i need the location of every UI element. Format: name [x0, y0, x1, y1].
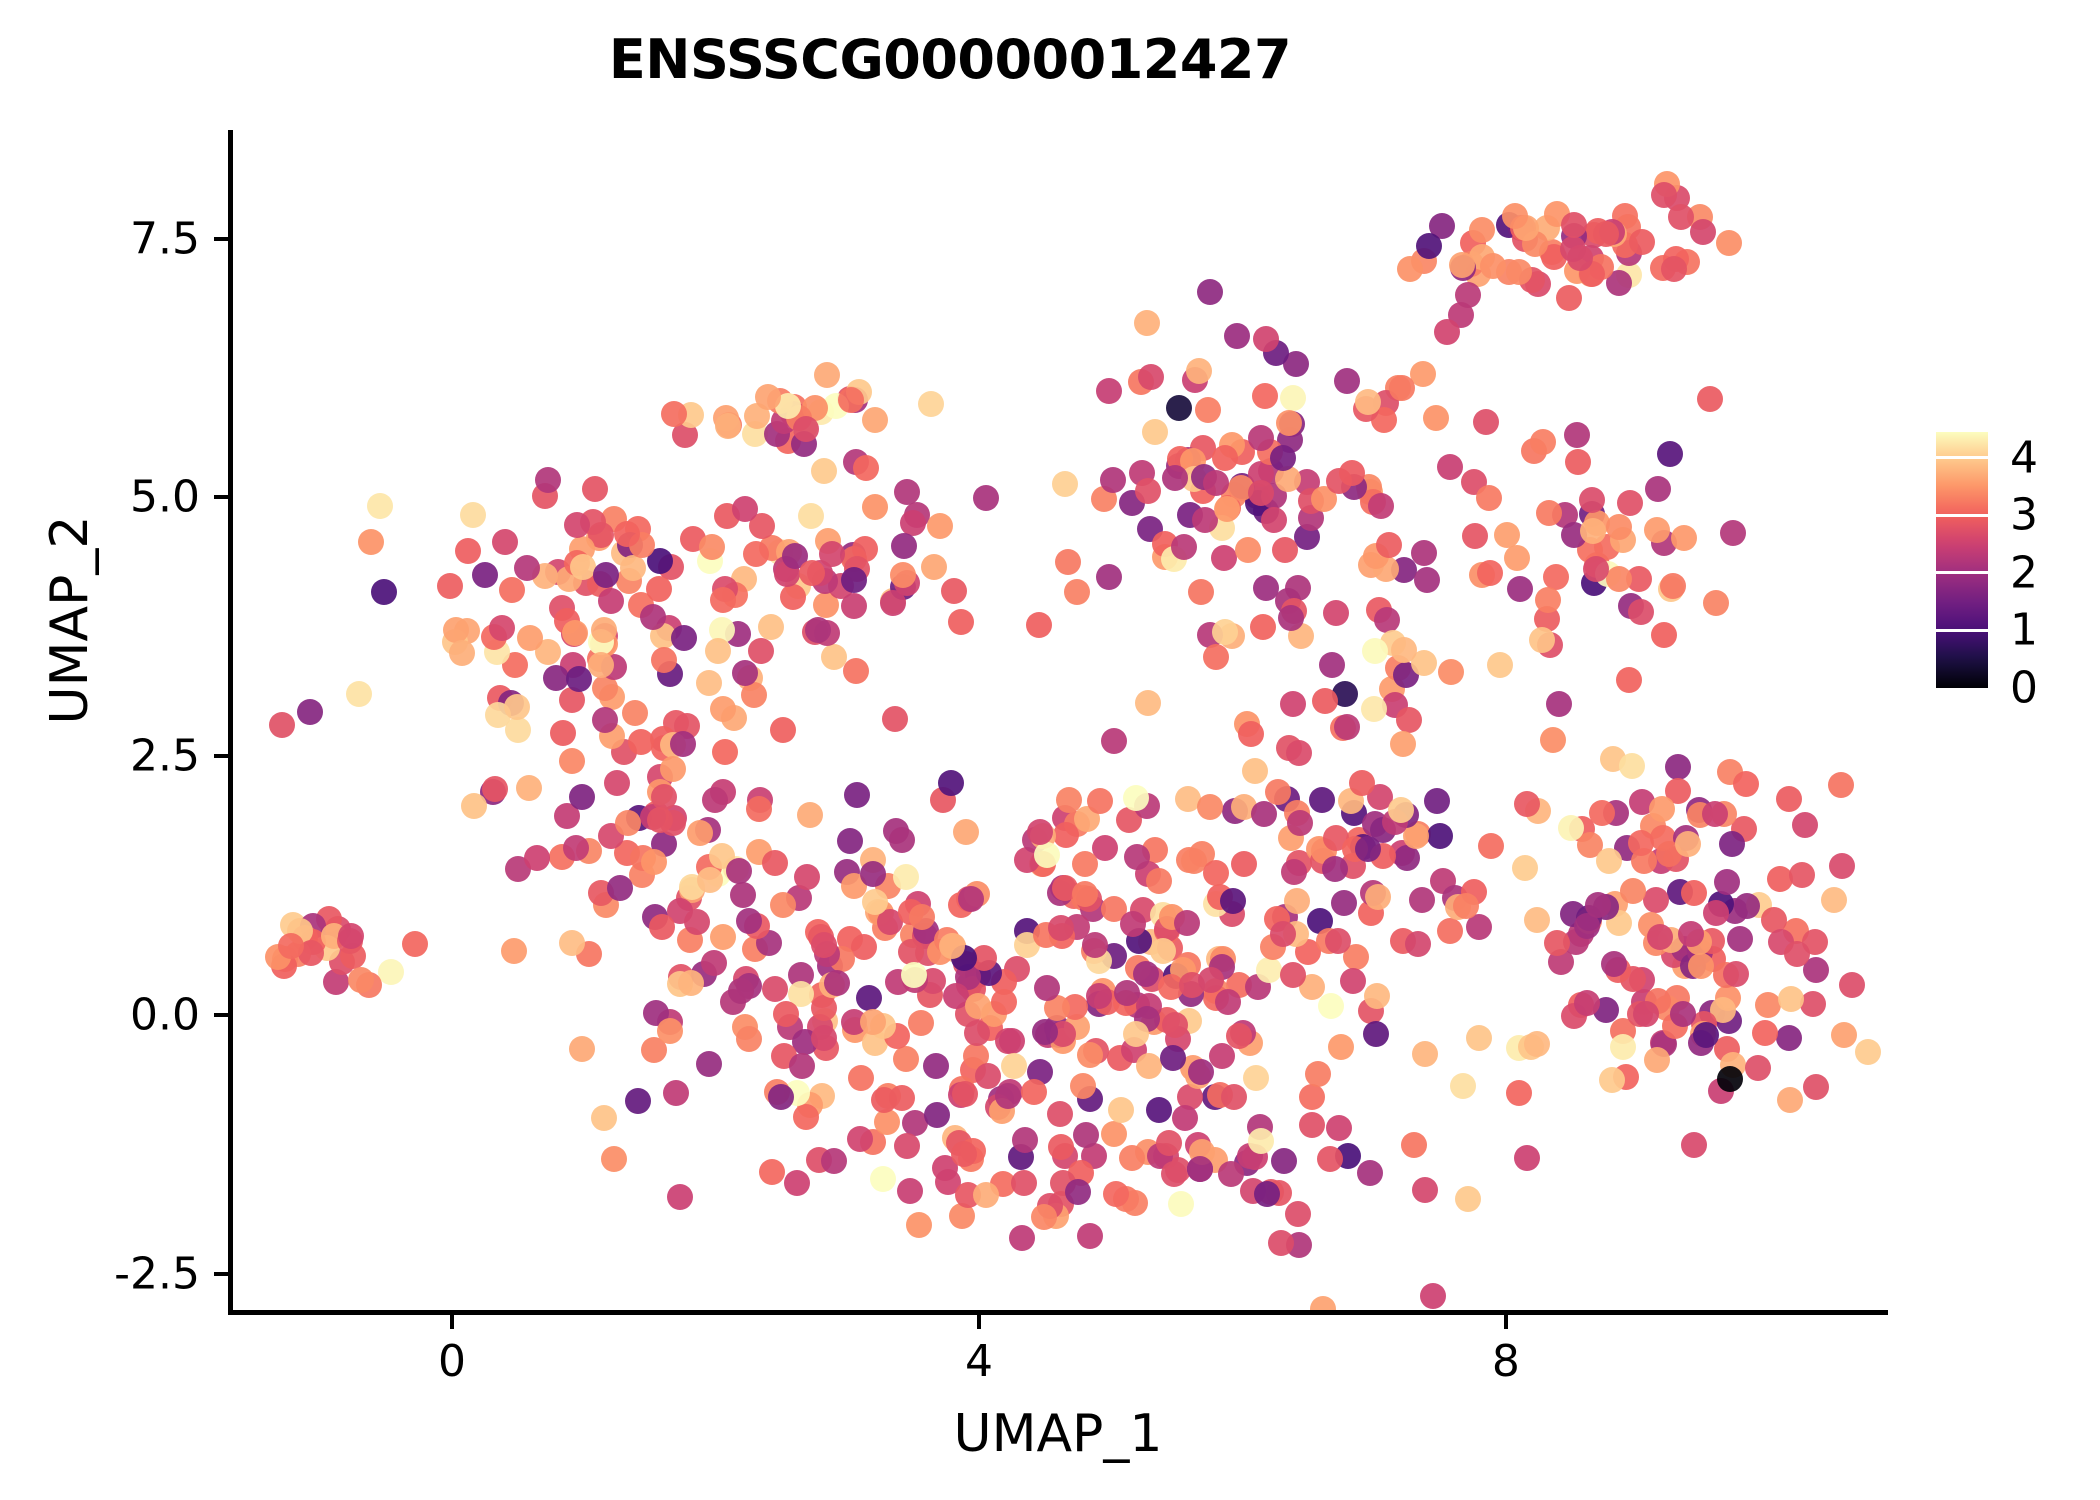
scatter-point	[1411, 540, 1437, 566]
scatter-point	[1211, 545, 1237, 571]
scatter-point	[1174, 910, 1200, 936]
scatter-point	[1248, 425, 1274, 451]
scatter-point	[811, 932, 837, 958]
scatter-point	[678, 970, 704, 996]
scatter-point	[569, 1036, 595, 1062]
scatter-point	[504, 694, 530, 720]
scatter-point	[705, 638, 731, 664]
scatter-point	[514, 555, 540, 581]
scatter-point	[671, 625, 697, 651]
scatter-point	[841, 593, 867, 619]
scatter-point	[667, 1184, 693, 1210]
scatter-point	[1839, 972, 1865, 998]
scatter-point	[1755, 992, 1781, 1018]
scatter-point	[860, 1009, 886, 1035]
scatter-point	[1660, 573, 1686, 599]
scatter-point	[1390, 731, 1416, 757]
scatter-point	[1221, 1084, 1247, 1110]
y-tick-label: 2.5	[10, 731, 200, 782]
scatter-point	[1286, 740, 1312, 766]
scatter-point	[1556, 285, 1582, 311]
scatter-point	[1142, 419, 1168, 445]
scatter-point	[1012, 1127, 1038, 1153]
x-tick-mark	[1504, 1315, 1508, 1329]
page-title: ENSSSCG00000012427	[0, 28, 1900, 91]
scatter-point	[1055, 549, 1081, 575]
scatter-point	[1197, 794, 1223, 820]
scatter-point	[371, 579, 397, 605]
scatter-point	[1001, 1053, 1027, 1079]
scatter-point	[696, 670, 722, 696]
scatter-point	[1719, 831, 1745, 857]
scatter-point	[891, 533, 917, 559]
scatter-point	[890, 562, 916, 588]
scatter-point	[710, 924, 736, 950]
scatter-point	[1161, 1161, 1187, 1187]
scatter-point	[1146, 1097, 1172, 1123]
y-tick-label: 5.0	[10, 472, 200, 523]
scatter-point	[1325, 928, 1351, 954]
scatter-point	[999, 1028, 1025, 1054]
scatter-point	[1644, 517, 1670, 543]
scatter-point	[952, 1081, 978, 1107]
scatter-point	[901, 962, 927, 988]
scatter-point	[1254, 1181, 1280, 1207]
scatter-point	[1723, 961, 1749, 987]
scatter-point	[1462, 523, 1488, 549]
y-tick-mark	[214, 237, 228, 241]
scatter-point	[1281, 859, 1307, 885]
scatter-point	[768, 1084, 794, 1110]
scatter-point	[893, 864, 919, 890]
scatter-point	[455, 538, 481, 564]
scatter-point	[657, 1018, 683, 1044]
scatter-point	[1253, 326, 1279, 352]
color-legend: 01234	[1936, 432, 2086, 688]
scatter-point	[1374, 607, 1400, 633]
scatter-point	[378, 959, 404, 985]
scatter-point	[1412, 1041, 1438, 1067]
scatter-point	[1215, 989, 1241, 1015]
scatter-point	[1665, 754, 1691, 780]
scatter-point	[797, 802, 823, 828]
scatter-point	[1693, 1022, 1719, 1048]
scatter-point	[736, 1026, 762, 1052]
scatter-point	[1512, 855, 1538, 881]
scatter-point	[1214, 496, 1240, 522]
scatter-point	[1198, 967, 1224, 993]
scatter-point	[1077, 1042, 1103, 1068]
scatter-point	[1349, 770, 1375, 796]
scatter-point	[1376, 532, 1402, 558]
scatter-point	[593, 562, 619, 588]
legend-tick-label: 0	[2010, 663, 2038, 714]
scatter-point	[1160, 1045, 1186, 1071]
legend-colorbar	[1936, 432, 1988, 688]
legend-tick-mark	[1936, 456, 1988, 459]
scatter-point	[882, 706, 908, 732]
scatter-point	[1047, 1101, 1073, 1127]
scatter-point	[1310, 1296, 1336, 1310]
scatter-point	[770, 892, 796, 918]
scatter-point	[1334, 714, 1360, 740]
scatter-point	[614, 521, 640, 547]
scatter-point	[588, 652, 614, 678]
scatter-point	[592, 707, 618, 733]
scatter-point	[736, 908, 762, 934]
scatter-point	[702, 787, 728, 813]
scatter-point	[1272, 537, 1298, 563]
scatter-point	[1633, 1001, 1659, 1027]
legend-tick-label: 3	[2010, 490, 2038, 541]
scatter-point	[710, 696, 736, 722]
scatter-point	[1261, 507, 1287, 533]
scatter-point	[889, 1085, 915, 1111]
scatter-point	[1134, 310, 1160, 336]
scatter-point	[1628, 599, 1654, 625]
scatter-point	[1828, 772, 1854, 798]
scatter-point	[1171, 534, 1197, 560]
scatter-point	[1197, 279, 1223, 305]
y-tick-mark	[214, 754, 228, 758]
scatter-point	[856, 985, 882, 1011]
scatter-point	[1596, 848, 1622, 874]
scatter-point	[938, 770, 964, 796]
scatter-point	[1727, 926, 1753, 952]
scatter-point	[1331, 890, 1357, 916]
scatter-point	[1363, 1021, 1389, 1047]
scatter-point	[1593, 221, 1619, 247]
scatter-point	[1287, 810, 1313, 836]
scatter-point	[661, 401, 687, 427]
scatter-point	[1280, 691, 1306, 717]
scatter-point	[1034, 975, 1060, 1001]
scatter-point	[651, 647, 677, 673]
scatter-point	[564, 512, 590, 538]
scatter-point	[1166, 395, 1192, 421]
scatter-point	[559, 930, 585, 956]
y-tick-mark	[214, 1272, 228, 1276]
scatter-point	[1487, 652, 1513, 678]
scatter-point	[1717, 1066, 1743, 1092]
scatter-point	[1271, 1148, 1297, 1174]
scatter-point	[793, 416, 819, 442]
scatter-point	[1620, 878, 1646, 904]
scatter-point	[524, 845, 550, 871]
scatter-point	[1476, 485, 1502, 511]
scatter-point	[472, 562, 498, 588]
scatter-point	[1032, 1019, 1058, 1045]
scatter-point	[1778, 986, 1804, 1012]
scatter-point	[1242, 758, 1268, 784]
scatter-point	[1133, 961, 1159, 987]
scatter-point	[1072, 881, 1098, 907]
scatter-point	[1628, 830, 1654, 856]
scatter-point	[923, 1053, 949, 1079]
scatter-point	[965, 993, 991, 1019]
scatter-point	[1716, 230, 1742, 256]
scatter-point	[889, 827, 915, 853]
scatter-point	[1616, 667, 1642, 693]
scatter-point	[1251, 801, 1277, 827]
scatter-point	[1524, 1031, 1550, 1057]
scatter-point	[958, 886, 984, 912]
scatter-point	[1651, 622, 1677, 648]
scatter-point	[1355, 389, 1381, 415]
y-axis-line	[228, 130, 233, 1315]
scatter-point	[746, 796, 772, 822]
scatter-point	[893, 1046, 919, 1072]
scatter-point	[1256, 957, 1282, 983]
scatter-point	[1544, 930, 1570, 956]
scatter-point	[1644, 1047, 1670, 1073]
scatter-point	[1278, 605, 1304, 631]
scatter-point	[1535, 587, 1561, 613]
scatter-point	[1681, 1132, 1707, 1158]
scatter-point	[1364, 983, 1390, 1009]
scatter-point	[516, 775, 542, 801]
scatter-point	[1455, 282, 1481, 308]
scatter-point	[1009, 1225, 1035, 1251]
scatter-point	[1583, 556, 1609, 582]
scatter-point	[1339, 460, 1365, 486]
scatter-point	[1546, 691, 1572, 717]
scatter-point	[1651, 182, 1677, 208]
scatter-point	[964, 1020, 990, 1046]
scatter-point	[732, 496, 758, 522]
scatter-point	[789, 1053, 815, 1079]
scatter-point	[762, 850, 788, 876]
scatter-point	[607, 875, 633, 901]
scatter-point	[641, 849, 667, 875]
scatter-point	[628, 729, 654, 755]
scatter-point	[1405, 931, 1431, 957]
scatter-point	[1671, 525, 1697, 551]
scatter-point	[1606, 566, 1632, 592]
scatter-point	[793, 1104, 819, 1130]
scatter-point	[1720, 520, 1746, 546]
scatter-point	[1416, 233, 1442, 259]
scatter-point	[906, 1212, 932, 1238]
scatter-point	[1455, 1186, 1481, 1212]
scatter-point	[1585, 892, 1611, 918]
scatter-point	[1619, 753, 1645, 779]
scatter-point	[1784, 941, 1810, 967]
scatter-point	[1396, 707, 1422, 733]
scatter-point	[811, 1025, 837, 1051]
scatter-point	[1361, 696, 1387, 722]
scatter-point	[1135, 690, 1161, 716]
scatter-point	[684, 909, 710, 935]
scatter-point	[870, 1166, 896, 1192]
scatter-point	[1703, 900, 1729, 926]
scatter-point	[1437, 454, 1463, 480]
scatter-point	[1096, 378, 1122, 404]
scatter-point	[1086, 983, 1112, 1009]
scatter-point	[784, 1170, 810, 1196]
scatter-point	[1284, 888, 1310, 914]
scatter-point	[1645, 476, 1671, 502]
scatter-point	[460, 502, 486, 528]
scatter-point	[1252, 383, 1278, 409]
scatter-point	[1299, 1084, 1325, 1110]
scatter-point	[1188, 579, 1214, 605]
scatter-point	[1365, 884, 1391, 910]
scatter-point	[921, 554, 947, 580]
legend-tick-label: 4	[2010, 432, 2038, 483]
scatter-point	[1034, 842, 1060, 868]
scatter-point	[1752, 1020, 1778, 1046]
scatter-point	[897, 1178, 923, 1204]
scatter-point	[1414, 567, 1440, 593]
scatter-point	[1026, 612, 1052, 638]
scatter-point	[1789, 862, 1815, 888]
scatter-point	[1678, 921, 1704, 947]
scatter-point	[1238, 721, 1264, 747]
scatter-point	[1011, 1170, 1037, 1196]
scatter-point	[358, 529, 384, 555]
scatter-point	[1334, 368, 1360, 394]
scatter-point	[559, 748, 585, 774]
scatter-point	[1540, 727, 1566, 753]
scatter-point	[953, 819, 979, 845]
scatter-point	[1103, 1181, 1129, 1207]
scatter-point	[482, 776, 508, 802]
scatter-point	[348, 967, 374, 993]
scatter-point	[1617, 490, 1643, 516]
scatter-point	[1453, 893, 1479, 919]
scatter-point	[1355, 836, 1381, 862]
scatter-point	[1048, 915, 1074, 941]
scatter-point	[1829, 853, 1855, 879]
scatter-point	[710, 587, 736, 613]
scatter-point	[1661, 256, 1687, 282]
scatter-point	[591, 617, 617, 643]
scatter-point	[748, 638, 774, 664]
scatter-point	[1697, 386, 1723, 412]
scatter-point	[880, 590, 906, 616]
scatter-point	[948, 609, 974, 635]
x-axis-title: UMAP_1	[228, 1404, 1888, 1464]
scatter-point	[1248, 480, 1274, 506]
x-tick-mark	[450, 1315, 454, 1329]
scatter-point	[1096, 564, 1122, 590]
scatter-point	[1123, 1021, 1149, 1047]
scatter-point	[1226, 1023, 1252, 1049]
scatter-point	[1424, 788, 1450, 814]
scatter-point	[848, 1065, 874, 1091]
scatter-point	[1077, 1223, 1103, 1249]
scatter-point	[1248, 1128, 1274, 1154]
scatter-point	[1186, 358, 1212, 384]
scatter-point	[1803, 1074, 1829, 1100]
y-tick-label: 7.5	[10, 213, 200, 264]
scatter-point	[847, 1126, 873, 1152]
scatter-point	[601, 1146, 627, 1172]
scatter-point	[1855, 1039, 1881, 1065]
scatter-point	[975, 1063, 1001, 1089]
scatter-point	[1218, 1161, 1244, 1187]
plot-panel	[228, 130, 1888, 1310]
scatter-point	[1243, 1065, 1269, 1091]
scatter-point	[550, 720, 576, 746]
scatter-point	[569, 784, 595, 810]
scatter-point	[660, 756, 686, 782]
scatter-point	[663, 1080, 689, 1106]
scatter-point	[591, 1105, 617, 1131]
scatter-point	[437, 573, 463, 599]
y-tick-mark	[214, 495, 228, 499]
scatter-point	[1064, 579, 1090, 605]
scatter-point	[1073, 1122, 1099, 1148]
scatter-point	[1031, 1204, 1057, 1230]
x-axis-line	[228, 1310, 1888, 1315]
scatter-point	[402, 931, 428, 957]
scatter-point	[1231, 851, 1257, 877]
scatter-point	[924, 1102, 950, 1128]
scatter-point	[461, 793, 487, 819]
scatter-point	[843, 658, 869, 684]
scatter-point	[1162, 1012, 1188, 1038]
scatter-point	[1203, 470, 1229, 496]
scatter-point	[1187, 1156, 1213, 1182]
scatter-point	[1265, 779, 1291, 805]
scatter-point	[570, 554, 596, 580]
scatter-point	[1629, 229, 1655, 255]
scatter-point	[951, 1141, 977, 1167]
scatter-point	[1427, 823, 1453, 849]
scatter-point	[927, 513, 953, 539]
scatter-point	[489, 615, 515, 641]
y-tick-label: -2.5	[10, 1248, 200, 1299]
scatter-point	[1212, 619, 1238, 645]
y-tick-label: 0.0	[10, 990, 200, 1041]
scatter-point	[1309, 787, 1335, 813]
scatter-point	[499, 577, 525, 603]
scatter-point	[1253, 575, 1279, 601]
scatter-point	[1647, 924, 1673, 950]
scatter-point	[712, 739, 738, 765]
scatter-point	[269, 712, 295, 738]
scatter-point	[814, 362, 840, 388]
x-tick-label: 4	[965, 1336, 993, 1387]
scatter-point	[1172, 1105, 1198, 1131]
scatter-point	[1477, 560, 1503, 586]
scatter-point	[501, 938, 527, 964]
scatter-point	[844, 782, 870, 808]
scatter-point	[841, 567, 867, 593]
scatter-point	[1714, 869, 1740, 895]
scatter-point	[1536, 500, 1562, 526]
scatter-point	[1821, 887, 1847, 913]
scatter-point	[1224, 323, 1250, 349]
scatter-point	[1506, 259, 1532, 285]
scatter-point	[1072, 851, 1098, 877]
scatter-point	[1397, 256, 1423, 282]
scatter-point	[1070, 1073, 1096, 1099]
scatter-point	[1776, 786, 1802, 812]
scatter-point	[297, 699, 323, 725]
scatter-point	[1319, 652, 1345, 678]
scatter-point	[1322, 856, 1348, 882]
scatter-point	[991, 989, 1017, 1015]
scatter-point	[1326, 1115, 1352, 1141]
scatter-point	[770, 717, 796, 743]
scatter-point	[773, 1001, 799, 1027]
scatter-point	[1318, 993, 1344, 1019]
scatter-point	[1188, 1059, 1214, 1085]
scatter-point	[824, 970, 850, 996]
